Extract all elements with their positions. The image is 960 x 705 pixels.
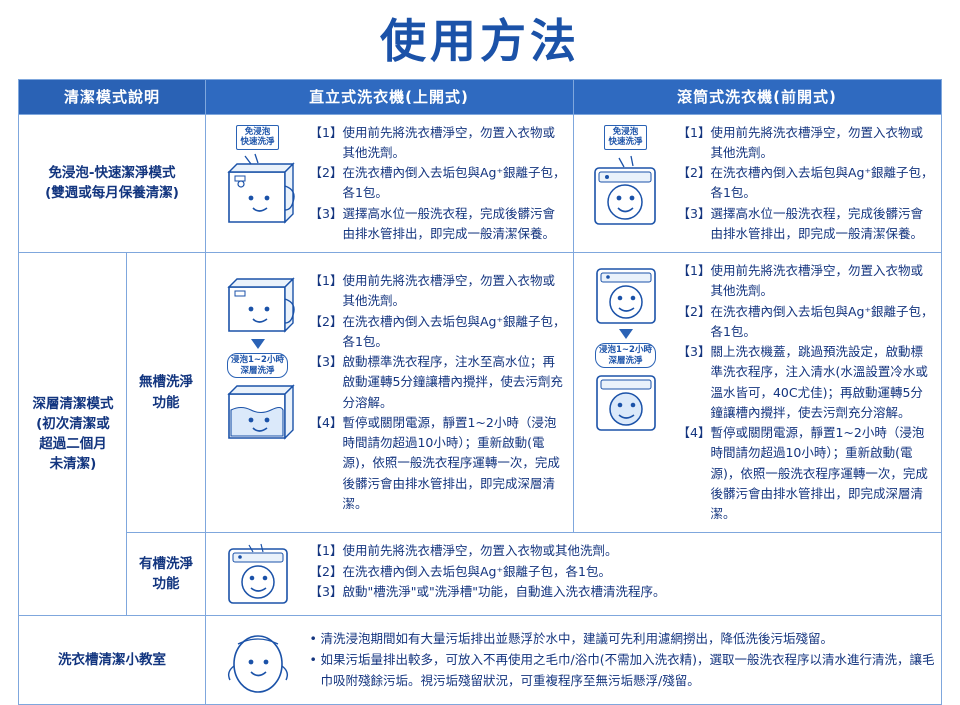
step-num: 【2】 <box>678 163 711 204</box>
step-text: 在洗衣槽內倒入去垢包與Ag⁺銀離子包，各1包。 <box>710 163 934 204</box>
front-load-washer-icon <box>583 263 669 325</box>
front-load-washer-icon <box>215 543 301 607</box>
step-text: 暫停或關閉電源，靜置1~2小時（浸泡時間請勿超過10小時）；重新啟動(電源)，依… <box>342 413 566 514</box>
sub-label-text: 無槽洗淨功能 <box>139 374 193 410</box>
badge-quick-wash: 免浸泡快速洗淨 <box>604 125 646 150</box>
step-text: 使用前先將洗衣槽淨空，勿置入衣物或其他洗劑。 <box>342 123 566 164</box>
sub-label-text: 有槽洗淨功能 <box>139 556 193 592</box>
step-num: 【4】 <box>310 413 343 514</box>
row-label-text: 深層清潔模式(初次清潔或超過二個月未清潔) <box>32 396 113 473</box>
down-arrow-icon <box>619 329 633 339</box>
row-label-quick-mode: 免浸泡-快速潔淨模式(雙週或每月保養清潔) <box>19 114 205 253</box>
cell-tubwash-merged: 【1】使用前先將洗衣槽淨空，勿置入衣物或其他洗劑。 【2】在洗衣槽內倒入去垢包與… <box>205 533 941 616</box>
steps-deep-drum: 【1】使用前先將洗衣槽淨空，勿置入衣物或其他洗劑。 【2】在洗衣槽內倒入去垢包與… <box>678 261 935 524</box>
step-num: 【3】 <box>310 582 343 602</box>
step-num: 【2】 <box>310 163 343 204</box>
table-row: 深層清潔模式(初次清潔或超過二個月未清潔) 無槽洗淨功能 <box>19 253 941 533</box>
step-num: 【3】 <box>678 204 711 245</box>
step-num: 【2】 <box>310 312 343 353</box>
step-num: 【3】 <box>678 342 711 423</box>
step-text: 暫停或關閉電源，靜置1~2小時（浸泡時間請勿超過10小時）；重新啟動(電源)，依… <box>710 423 934 524</box>
bullet-dot: • <box>310 650 321 692</box>
step-num: 【2】 <box>678 302 711 343</box>
down-arrow-icon <box>251 339 265 349</box>
step-num: 【3】 <box>310 204 343 245</box>
tip-text: 如果污垢量排出較多，可放入不再使用之毛巾/浴巾(不需加入洗衣精)，選取一般洗衣程… <box>321 650 935 692</box>
illustration-tips <box>210 624 306 696</box>
top-load-washer-icon <box>215 152 301 228</box>
illustration-tubwash <box>210 541 306 607</box>
step-num: 【3】 <box>310 352 343 413</box>
step-num: 【4】 <box>678 423 711 524</box>
step-text: 使用前先將洗衣槽淨空，勿置入衣物或其他洗劑。 <box>342 271 566 312</box>
sub-label-no-tubwash: 無槽洗淨功能 <box>127 253 205 533</box>
step-num: 【1】 <box>310 123 343 164</box>
step-text: 在洗衣槽內倒入去垢包與Ag⁺銀離子包，各1包。 <box>342 312 566 353</box>
step-num: 【1】 <box>678 261 711 302</box>
header-drum-washer: 滾筒式洗衣機(前開式) <box>573 79 941 114</box>
step-text: 啟動標準洗衣程序，注水至高水位；再啟動運轉5分鐘讓槽內攪拌，使去污劑充分溶解。 <box>342 352 566 413</box>
badge-soak-deep-wash: 浸泡1~2小時深層洗淨 <box>595 343 656 368</box>
badge-quick-wash: 免浸泡快速洗淨 <box>236 125 278 150</box>
steps-quick-vertical: 【1】使用前先將洗衣槽淨空，勿置入衣物或其他洗劑。 【2】在洗衣槽內倒入去垢包與… <box>310 123 567 245</box>
cell-deep-vertical: 浸泡1~2小時深層洗淨 【1】使用前先將洗衣槽淨空，勿置入衣物或其他洗 <box>205 253 573 533</box>
cell-tips: •清洗浸泡期間如有大量污垢排出並懸浮於水中，建議可先利用濾網撈出，降低洗後污垢殘… <box>205 616 941 705</box>
step-text: 使用前先將洗衣槽淨空，勿置入衣物或其他洗劑。 <box>710 123 934 164</box>
row-label-tips: 洗衣槽清潔小教室 <box>19 616 205 705</box>
step-text: 在洗衣槽內倒入去垢包與Ag⁺銀離子包，各1包。 <box>342 163 566 204</box>
step-text: 在洗衣槽內倒入去垢包與Ag⁺銀離子包，各1包。 <box>342 562 934 582</box>
header-vertical-washer: 直立式洗衣機(上開式) <box>205 79 573 114</box>
page-root: 使用方法 清潔模式說明 直立式洗衣機(上開式) 滾筒式洗衣機(前開式) 免浸泡-… <box>0 0 960 688</box>
step-num: 【1】 <box>310 271 343 312</box>
step-text: 使用前先將洗衣槽淨空，勿置入衣物或其他洗劑。 <box>342 541 934 561</box>
front-load-washer-soaking-icon <box>583 370 669 432</box>
row-label-deep-mode: 深層清潔模式(初次清潔或超過二個月未清潔) <box>19 253 127 616</box>
cell-deep-drum: 浸泡1~2小時深層洗淨 【1】使用前先將洗衣槽淨空，勿置入衣物或其他洗劑。 <box>573 253 941 533</box>
step-text: 使用前先將洗衣槽淨空，勿置入衣物或其他洗劑。 <box>710 261 934 302</box>
illustration-vertical-deep: 浸泡1~2小時深層洗淨 <box>210 271 306 442</box>
step-text: 關上洗衣機蓋，跳過預洗設定，啟動標準洗衣程序，注入清水(水溫設置冷水或溫水皆可，… <box>710 342 934 423</box>
step-text: 在洗衣槽內倒入去垢包與Ag⁺銀離子包，各1包。 <box>710 302 934 343</box>
steps-deep-vertical: 【1】使用前先將洗衣槽淨空，勿置入衣物或其他洗劑。 【2】在洗衣槽內倒入去垢包與… <box>310 271 567 514</box>
top-load-washer-icon <box>215 273 301 335</box>
bullet-dot: • <box>310 629 321 650</box>
step-num: 【1】 <box>310 541 343 561</box>
step-text: 選擇高水位一般洗衣程，完成後髒污會由排水管排出，即完成一般清潔保養。 <box>710 204 934 245</box>
header-mode-desc: 清潔模式說明 <box>19 79 205 114</box>
tip-text: 清洗浸泡期間如有大量污垢排出並懸浮於水中，建議可先利用濾網撈出，降低洗後污垢殘留… <box>321 629 834 650</box>
step-text: 選擇高水位一般洗衣程，完成後髒污會由排水管排出，即完成一般清潔保養。 <box>342 204 566 245</box>
table-row: 有槽洗淨功能 <box>19 533 941 616</box>
step-text: 啟動"槽洗淨"或"洗淨槽"功能，自動進入洗衣槽清洗程序。 <box>342 582 934 602</box>
sub-label-with-tubwash: 有槽洗淨功能 <box>127 533 205 616</box>
step-num: 【2】 <box>310 562 343 582</box>
page-title: 使用方法 <box>0 0 960 67</box>
washer-mascot-icon <box>218 626 298 696</box>
illustration-vertical-quick: 免浸泡快速洗淨 <box>210 123 306 228</box>
table-header-row: 清潔模式說明 直立式洗衣機(上開式) 滾筒式洗衣機(前開式) <box>19 79 941 114</box>
row-label-text: 洗衣槽清潔小教室 <box>58 652 166 668</box>
front-load-washer-icon <box>583 152 669 228</box>
table-row: 洗衣槽清潔小教室 <box>19 616 941 705</box>
illustration-drum-deep: 浸泡1~2小時深層洗淨 <box>578 261 674 432</box>
row-label-text: 免浸泡-快速潔淨模式(雙週或每月保養清潔) <box>45 165 179 201</box>
top-load-washer-soaking-icon <box>215 380 301 442</box>
cell-quick-vertical: 免浸泡快速洗淨 <box>205 114 573 253</box>
table-row: 免浸泡-快速潔淨模式(雙週或每月保養清潔) 免浸泡快速洗淨 <box>19 114 941 253</box>
usage-table: 清潔模式說明 直立式洗衣機(上開式) 滾筒式洗衣機(前開式) 免浸泡-快速潔淨模… <box>18 79 941 705</box>
step-num: 【1】 <box>678 123 711 164</box>
steps-tubwash: 【1】使用前先將洗衣槽淨空，勿置入衣物或其他洗劑。 【2】在洗衣槽內倒入去垢包與… <box>310 541 935 602</box>
cell-quick-drum: 免浸泡快速洗淨 【1】使用前先將洗衣槽淨 <box>573 114 941 253</box>
tips-list: •清洗浸泡期間如有大量污垢排出並懸浮於水中，建議可先利用濾網撈出，降低洗後污垢殘… <box>310 629 935 691</box>
steps-quick-drum: 【1】使用前先將洗衣槽淨空，勿置入衣物或其他洗劑。 【2】在洗衣槽內倒入去垢包與… <box>678 123 935 245</box>
badge-soak-deep-wash: 浸泡1~2小時深層洗淨 <box>227 353 288 378</box>
illustration-drum-quick: 免浸泡快速洗淨 <box>578 123 674 228</box>
